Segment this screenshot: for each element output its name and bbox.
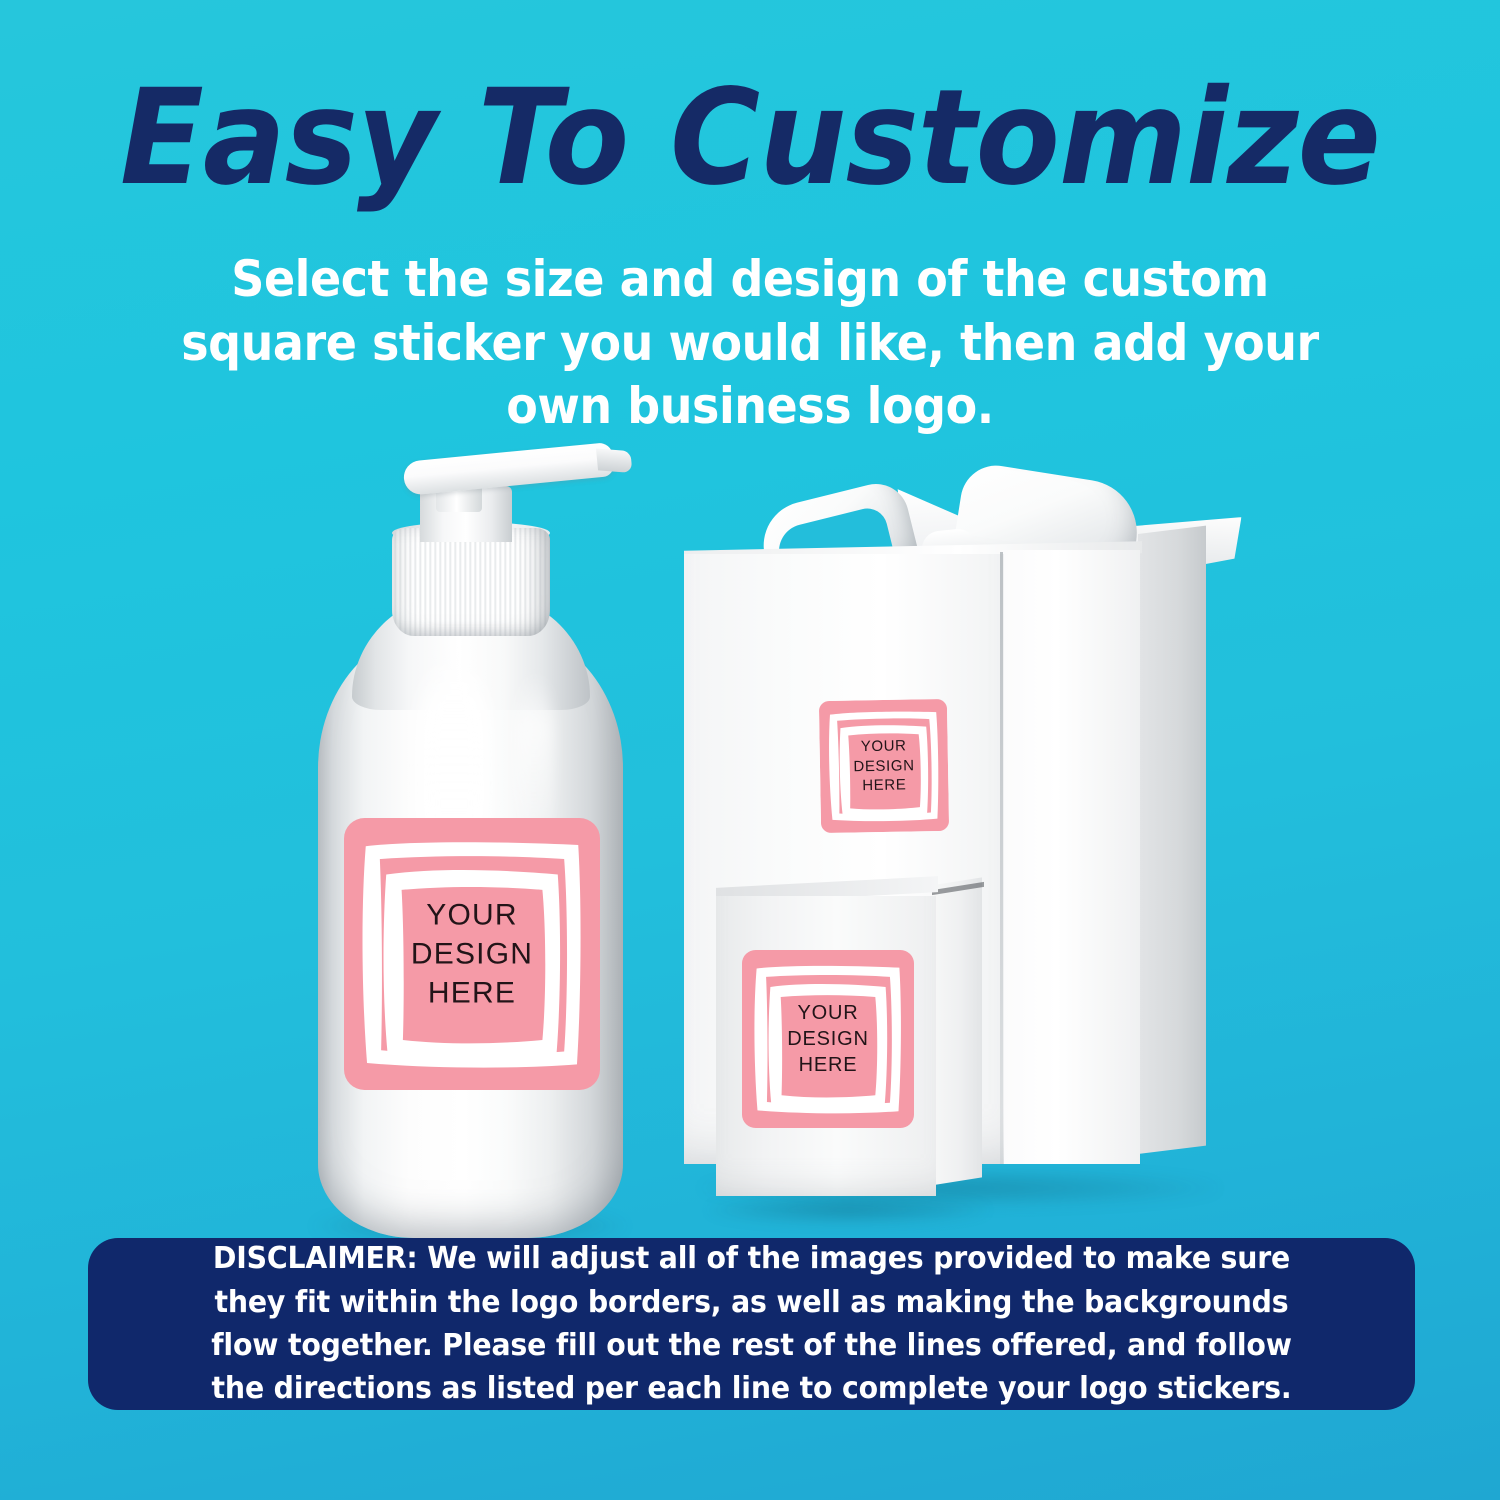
sticker-line-3: HERE xyxy=(820,775,948,797)
sticker-line-1: YOUR xyxy=(344,896,600,935)
gift-box-right-flap xyxy=(1002,550,1140,1164)
sticker-line-1: YOUR xyxy=(819,736,947,758)
disclaimer-banner: DISCLAIMER: We will adjust all of the im… xyxy=(88,1238,1415,1410)
disclaimer-text: DISCLAIMER: We will adjust all of the im… xyxy=(185,1237,1319,1410)
sticker-bottle: YOUR DESIGN HERE xyxy=(344,818,600,1090)
sticker-small-box: YOUR DESIGN HERE xyxy=(742,950,914,1128)
product-mockup-scene: YOUR DESIGN HERE xyxy=(0,400,1500,1260)
small-box-shadow xyxy=(708,1196,988,1224)
sticker-artwork: YOUR DESIGN HERE xyxy=(344,818,600,1090)
bottle-ribbed-collar xyxy=(392,528,550,636)
sticker-line-2: DESIGN xyxy=(742,1026,914,1052)
sticker-text: YOUR DESIGN HERE xyxy=(742,1000,914,1078)
page-title: Easy To Customize xyxy=(53,72,1448,204)
sticker-line-1: YOUR xyxy=(742,1000,914,1026)
sticker-artwork: YOUR DESIGN HERE xyxy=(742,950,914,1128)
sticker-text: YOUR DESIGN HERE xyxy=(819,736,948,797)
sticker-line-2: DESIGN xyxy=(344,935,600,974)
sticker-text: YOUR DESIGN HERE xyxy=(344,896,600,1013)
sticker-line-3: HERE xyxy=(742,1052,914,1078)
sticker-artwork: YOUR DESIGN HERE xyxy=(819,699,949,833)
sticker-line-2: DESIGN xyxy=(820,755,948,777)
product-pump-bottle: YOUR DESIGN HERE xyxy=(300,440,640,1250)
gift-box-side-panel xyxy=(1138,526,1206,1154)
gift-box-seam xyxy=(1000,552,1003,1164)
sticker-gift-box: YOUR DESIGN HERE xyxy=(819,699,949,833)
sticker-line-3: HERE xyxy=(344,974,600,1013)
small-box-side-panel xyxy=(934,877,982,1185)
product-small-box: YOUR DESIGN HERE xyxy=(700,880,1000,1220)
